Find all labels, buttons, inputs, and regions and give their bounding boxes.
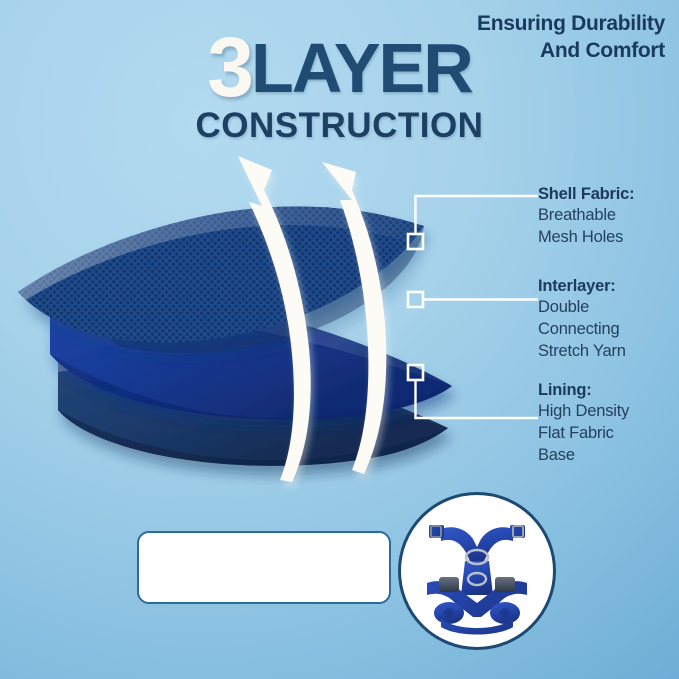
callout-desc-line: Base <box>538 445 679 467</box>
callout-desc-line: Breathable <box>538 205 679 227</box>
infographic-poster: 3LAYER CONSTRUCTION <box>0 0 679 679</box>
tagline-callout-box <box>137 531 391 604</box>
title-word-layer: LAYER <box>251 35 472 102</box>
harness-shoulder-strap <box>441 527 513 563</box>
tagline-line-1: Ensuring Durability <box>443 11 665 38</box>
callout-desc-line: Flat Fabric <box>538 423 679 445</box>
dog-harness-photo <box>401 495 553 647</box>
callout-label-shell-fabric: Shell Fabric: Breathable Mesh Holes <box>538 184 679 249</box>
callout-title: Interlayer: <box>538 276 679 297</box>
callout-desc-line: Double <box>538 297 679 319</box>
harness-buckle <box>439 577 459 592</box>
harness-chest-panel <box>461 561 493 595</box>
layer-stack-illustration <box>0 140 470 500</box>
product-image-circle <box>398 492 556 650</box>
harness-buckle <box>495 577 515 592</box>
callout-title: Shell Fabric: <box>538 184 679 205</box>
callout-label-interlayer: Interlayer: Double Connecting Stretch Ya… <box>538 276 679 363</box>
callout-label-lining: Lining: High Density Flat Fabric Base <box>538 380 679 467</box>
tagline-line-2: And Comfort <box>443 38 665 65</box>
tagline-text: Ensuring Durability And Comfort <box>443 11 665 65</box>
callout-desc-line: Connecting <box>538 319 679 341</box>
callout-title: Lining: <box>538 380 679 401</box>
callout-desc-line: Mesh Holes <box>538 227 679 249</box>
layer-count-numeral: 3 <box>207 28 251 108</box>
callout-desc-line: High Density <box>538 401 679 423</box>
callout-desc-line: Stretch Yarn <box>538 341 679 363</box>
